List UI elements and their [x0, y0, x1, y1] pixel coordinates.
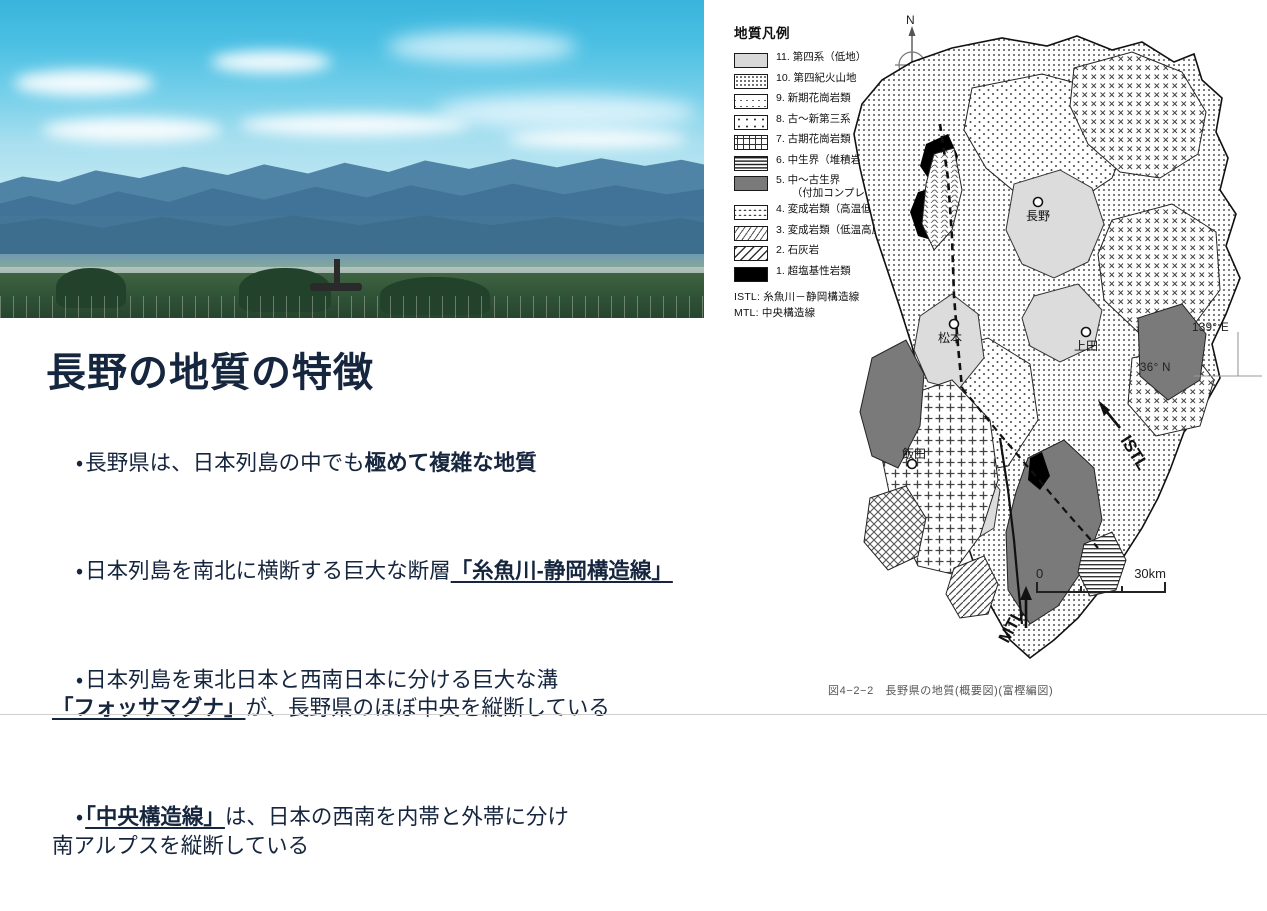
city-label-ueda: 上田	[1074, 339, 1098, 353]
bullet-segment-emphasis: 「フォッサマグナ」	[52, 696, 246, 720]
legend-swatch-icon	[734, 176, 768, 191]
legend-swatch-icon	[734, 135, 768, 150]
scale-end-label: 30km	[1134, 566, 1166, 581]
bullet-segment-emphasis: 極めて複雑な地質	[365, 451, 537, 475]
page-title: 長野の地質の特徴	[46, 340, 374, 398]
scale-start-label: 0	[1036, 566, 1043, 581]
scale-tick	[1121, 586, 1123, 591]
legend-swatch-icon	[734, 246, 768, 261]
latitude-label: 36° N	[1140, 362, 1171, 374]
bullet-marker: ・	[76, 805, 83, 829]
map-scale-bar: 0 30km	[1036, 566, 1166, 593]
legend-swatch-icon	[734, 53, 768, 68]
city-marker-matsumoto	[950, 320, 959, 329]
legend-swatch-icon	[734, 156, 768, 171]
slide-root: 長野の地質の特徴 ・長野県は、日本列島の中でも極めて複雑な地質 ・日本列島を南北…	[0, 0, 1267, 796]
figure-caption: 図4−2−2 長野県の地質(概要図)(富樫編図)	[828, 682, 1053, 698]
city-label-matsumoto: 松本	[938, 331, 962, 345]
city-marker-ueda	[1082, 328, 1091, 337]
legend-swatch-icon	[734, 267, 768, 282]
compass-north-label: N	[906, 13, 915, 27]
bullet-item-1: ・長野県は、日本列島の中でも極めて複雑な地質	[40, 420, 730, 506]
legend-swatch-icon	[734, 205, 768, 220]
scale-bar-track	[1036, 582, 1166, 593]
cloud-shape	[14, 70, 154, 96]
city-label-nagano: 長野	[1026, 209, 1050, 223]
bullet-marker: ・	[76, 559, 83, 583]
landscape-photo	[0, 0, 704, 318]
bullet-segment: 日本列島を南北に横断する巨大な断層	[85, 559, 451, 583]
legend-swatch-icon	[734, 226, 768, 241]
bullet-segment-emphasis: 「糸魚川-静岡構造線」	[451, 559, 673, 583]
bullet-list: ・長野県は、日本列島の中でも極めて複雑な地質 ・日本列島を南北に横断する巨大な断…	[40, 420, 730, 911]
longitude-label: 139° E	[1192, 322, 1229, 334]
legend-swatch-icon	[734, 94, 768, 109]
city-label-iida: 飯田	[902, 447, 926, 461]
bullet-item-2: ・日本列島を南北に横断する巨大な断層「糸魚川-静岡構造線」	[40, 528, 730, 614]
nagano-geology-map: 長野 上田 松本 飯田 ISTL MTL	[802, 28, 1262, 688]
geology-figure: 地質凡例 11. 第四系（低地） 10. 第四紀火山地 9. 新期花崗岩類 8.…	[716, 10, 1261, 710]
bullet-segment: が、長野県のほぼ中央を縦断している	[245, 696, 609, 720]
legend-swatch-icon	[734, 74, 768, 89]
bullet-segment: 長野県は、日本列島の中でも	[85, 451, 365, 475]
bullet-marker: ・	[76, 668, 83, 692]
cloud-shape	[211, 51, 331, 73]
bullet-segment-emphasis: 「中央構造線」	[85, 805, 225, 829]
footer-divider	[0, 714, 1267, 715]
city-marker-nagano	[1034, 198, 1043, 207]
bullet-item-3: ・日本列島を東北日本と西南日本に分ける巨大な溝 「フォッサマグナ」が、長野県のほ…	[40, 637, 730, 752]
legend-swatch-icon	[734, 115, 768, 130]
bullet-marker: ・	[76, 451, 83, 475]
scale-tick	[1080, 586, 1082, 591]
tower-roof	[310, 283, 362, 291]
bullet-item-4: ・「中央構造線」は、日本の西南を内帯と外帯に分け 南アルプスを縦断している	[40, 774, 730, 889]
cloud-shape	[387, 32, 577, 62]
map-svg: 長野 上田 松本 飯田 ISTL MTL	[802, 28, 1262, 688]
cloud-shape	[42, 118, 222, 142]
fence-railing	[0, 296, 704, 318]
